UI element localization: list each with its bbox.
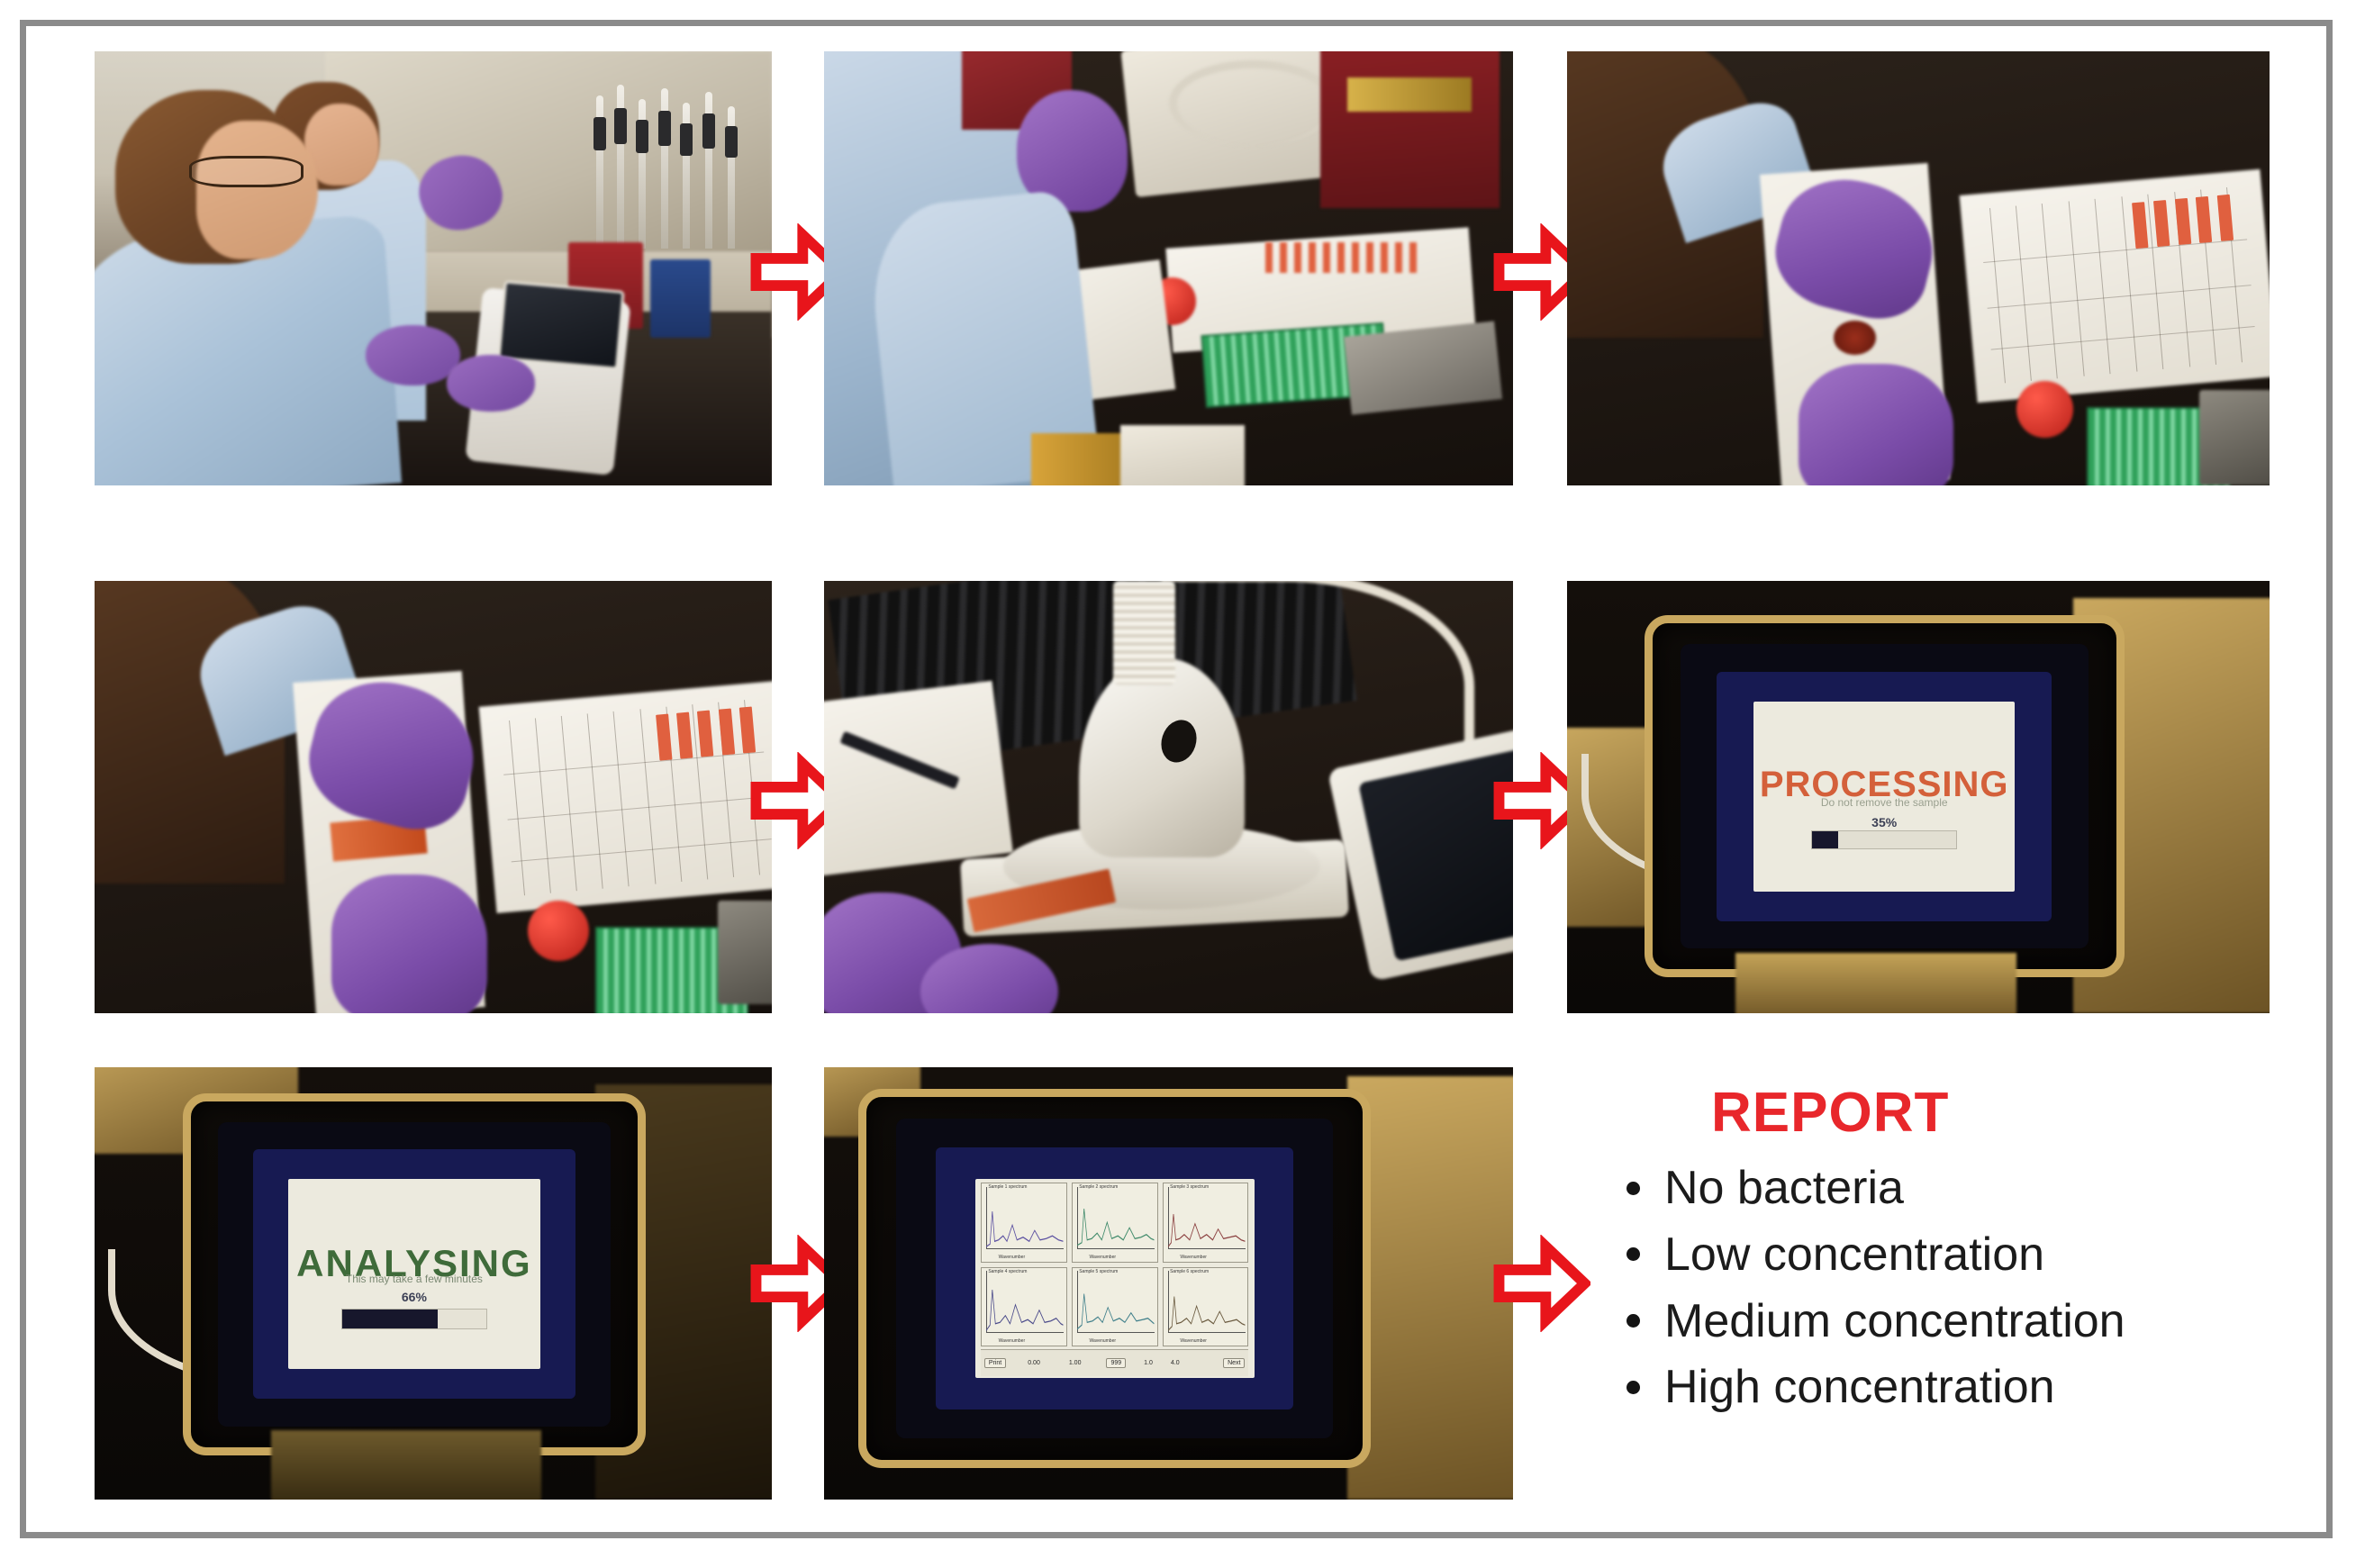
figure-root: PROCESSING Do not remove the sample 35% <box>0 0 2365 1568</box>
report-item: High concentration <box>1612 1355 2333 1421</box>
arrow-8-report-icon <box>1493 1235 1590 1332</box>
plot-title: Sample 5 spectrum <box>1079 1269 1118 1274</box>
toolbar-field-1[interactable]: 0.00 <box>1028 1360 1040 1366</box>
report-item: Medium concentration <box>1612 1289 2333 1355</box>
spectrum-trace <box>986 1279 1063 1333</box>
results-plot[interactable]: Sample 2 spectrum Wavenumber <box>1072 1183 1158 1262</box>
results-plot[interactable]: Sample 5 spectrum Wavenumber <box>1072 1267 1158 1346</box>
spectrum-trace <box>1077 1279 1154 1333</box>
results-plot[interactable]: Sample 3 spectrum Wavenumber <box>1163 1183 1249 1262</box>
instrument-screen-bezel: ANALYSING This may take a few minutes 66… <box>183 1093 646 1455</box>
processing-screen: PROCESSING Do not remove the sample 35% <box>1753 702 2015 892</box>
processing-percent: 35% <box>1753 815 2015 829</box>
analysing-progress-track <box>341 1309 487 1329</box>
spectrum-trace <box>1168 1195 1245 1249</box>
report-block: REPORT No bacteria Low concentration Med… <box>1612 1081 2333 1421</box>
plot-xlabel: Wavenumber <box>999 1338 1026 1344</box>
plot-title: Sample 1 spectrum <box>988 1184 1027 1190</box>
results-plot[interactable]: Sample 1 spectrum Wavenumber <box>981 1183 1067 1262</box>
analysing-progress-fill <box>342 1310 438 1328</box>
processing-progress-fill <box>1812 831 1838 848</box>
plot-xlabel: Wavenumber <box>1180 1255 1207 1260</box>
analysing-subtitle: This may take a few minutes <box>288 1273 539 1285</box>
pipette-stand <box>589 77 766 259</box>
processing-subtitle: Do not remove the sample <box>1753 796 2015 809</box>
panel-3-sample-application <box>1567 51 2270 485</box>
report-item: Low concentration <box>1612 1222 2333 1289</box>
spectrum-trace <box>1168 1279 1245 1333</box>
next-button[interactable]: Next <box>1223 1358 1245 1368</box>
panel-6-instrument-processing: PROCESSING Do not remove the sample 35% <box>1567 581 2270 1013</box>
plot-xlabel: Wavenumber <box>999 1255 1026 1260</box>
toolbar-field-3[interactable]: 1.0 <box>1144 1360 1153 1366</box>
plot-title: Sample 3 spectrum <box>1170 1184 1209 1190</box>
processing-progress-track <box>1811 830 1957 849</box>
panel-5-reader-insertion <box>824 581 1513 1013</box>
toolbar-field-4[interactable]: 4.0 <box>1171 1360 1180 1366</box>
instrument-screen-bezel: PROCESSING Do not remove the sample 35% <box>1645 615 2125 977</box>
print-button[interactable]: Print <box>984 1358 1006 1368</box>
toolbar-value[interactable]: 999 <box>1106 1358 1126 1368</box>
spectrum-trace <box>986 1195 1063 1249</box>
results-screen: Sample 1 spectrum Wavenumber Sample 2 sp… <box>975 1179 1255 1378</box>
report-item: No bacteria <box>1612 1156 2333 1222</box>
plot-xlabel: Wavenumber <box>1089 1255 1116 1260</box>
results-toolbar: Print 0.00 1.00 999 1.0 4.0 Next <box>981 1349 1249 1376</box>
panel-1-lab-scientists <box>95 51 772 485</box>
panel-7-instrument-analysing: ANALYSING This may take a few minutes 66… <box>95 1067 772 1500</box>
report-title: REPORT <box>1612 1081 2333 1145</box>
panel-2-bench-pipetting <box>824 51 1513 485</box>
analysing-screen: ANALYSING This may take a few minutes 66… <box>288 1179 539 1369</box>
plot-title: Sample 6 spectrum <box>1170 1269 1209 1274</box>
panel-4-sample-smear <box>95 581 772 1013</box>
spectrum-trace <box>1077 1195 1154 1249</box>
plot-title: Sample 4 spectrum <box>988 1269 1027 1274</box>
results-plot[interactable]: Sample 6 spectrum Wavenumber <box>1163 1267 1249 1346</box>
toolbar-field-2[interactable]: 1.00 <box>1069 1360 1082 1366</box>
report-list: No bacteria Low concentration Medium con… <box>1612 1156 2333 1421</box>
instrument-screen-bezel: Sample 1 spectrum Wavenumber Sample 2 sp… <box>858 1089 1371 1468</box>
analysing-percent: 66% <box>288 1290 539 1304</box>
results-plot[interactable]: Sample 4 spectrum Wavenumber <box>981 1267 1067 1346</box>
results-plot-grid: Sample 1 spectrum Wavenumber Sample 2 sp… <box>981 1183 1249 1346</box>
plot-title: Sample 2 spectrum <box>1079 1184 1118 1190</box>
panel-8-instrument-results: Sample 1 spectrum Wavenumber Sample 2 sp… <box>824 1067 1513 1500</box>
plot-xlabel: Wavenumber <box>1180 1338 1207 1344</box>
plot-xlabel: Wavenumber <box>1089 1338 1116 1344</box>
